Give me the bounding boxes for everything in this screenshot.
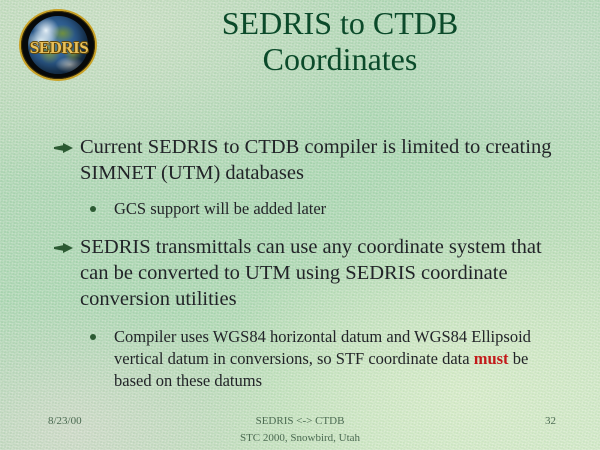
spacer <box>52 314 568 326</box>
bullet-level2-text-emphasis: must <box>474 349 509 368</box>
footer-deck-title: SEDRIS <-> CTDB <box>0 415 600 427</box>
spacer <box>52 188 568 198</box>
slide-title-line-1: SEDRIS to CTDB <box>120 6 560 42</box>
round-bullet-icon <box>90 334 96 340</box>
bullet-level1-item: SEDRIS transmittals can use any coordina… <box>52 234 568 312</box>
arrow-bullet-icon <box>54 243 73 253</box>
bullet-level2-item: Compiler uses WGS84 horizontal datum and… <box>82 326 568 392</box>
bullet-level2-text-pre: Compiler uses WGS84 horizontal datum and… <box>114 327 531 368</box>
sedris-logo: SEDRIS <box>15 10 103 80</box>
bullet-level1-text: SEDRIS transmittals can use any coordina… <box>80 236 542 310</box>
bullet-level2-item: GCS support will be added later <box>82 198 568 220</box>
slide-footer: 8/23/00 SEDRIS <-> CTDB 32 STC 2000, Sno… <box>0 410 600 450</box>
slide-canvas: SEDRIS SEDRIS to CTDB Coordinates Curren… <box>0 0 600 450</box>
footer-venue: STC 2000, Snowbird, Utah <box>0 432 600 444</box>
logo-wordmark: SEDRIS <box>15 38 103 58</box>
slide-title: SEDRIS to CTDB Coordinates <box>120 6 560 78</box>
slide-title-line-2: Coordinates <box>120 42 560 78</box>
bullet-level2-text: GCS support will be added later <box>114 199 326 218</box>
round-bullet-icon <box>90 206 96 212</box>
spacer <box>52 220 568 234</box>
bullet-level1-text: Current SEDRIS to CTDB compiler is limit… <box>80 136 551 184</box>
slide-body: Current SEDRIS to CTDB compiler is limit… <box>52 134 568 392</box>
arrow-bullet-icon <box>54 143 73 153</box>
footer-page-number: 32 <box>545 415 556 427</box>
bullet-level1-item: Current SEDRIS to CTDB compiler is limit… <box>52 134 568 186</box>
